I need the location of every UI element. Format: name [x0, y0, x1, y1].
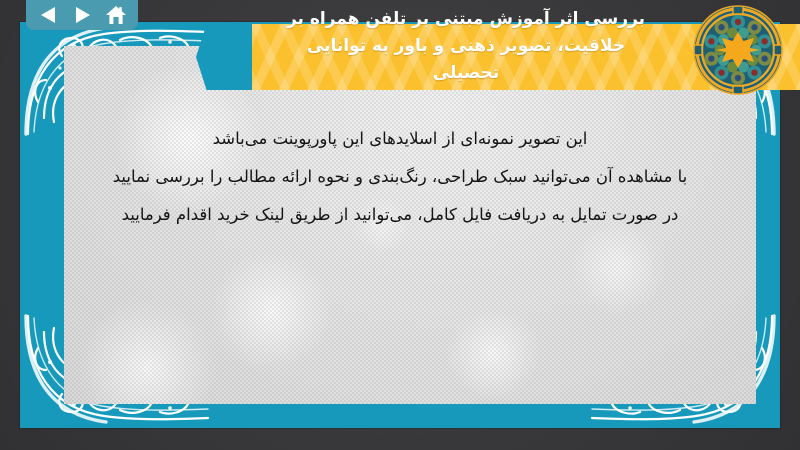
triangle-left-icon — [40, 6, 57, 24]
body-line-2: با مشاهده آن می‌توانید سبک طراحی، رنگ‌بن… — [64, 158, 736, 196]
body-line-1: این تصویر نمونه‌ای از اسلایدهای این پاور… — [64, 120, 736, 158]
home-icon — [105, 5, 127, 25]
home-button[interactable] — [104, 4, 128, 26]
triangle-right-icon — [74, 6, 91, 24]
slide-body-text: این تصویر نمونه‌ای از اسلایدهای این پاور… — [64, 120, 736, 234]
body-line-3: در صورت تمایل به دریافت فایل کامل، می‌تو… — [64, 196, 736, 234]
slide-canvas: این تصویر نمونه‌ای از اسلایدهای این پاور… — [0, 0, 800, 450]
prev-slide-button[interactable] — [36, 4, 60, 26]
slide-nav-bar — [26, 0, 138, 30]
next-slide-button[interactable] — [70, 4, 94, 26]
persian-rosette-medallion-icon — [692, 4, 784, 96]
